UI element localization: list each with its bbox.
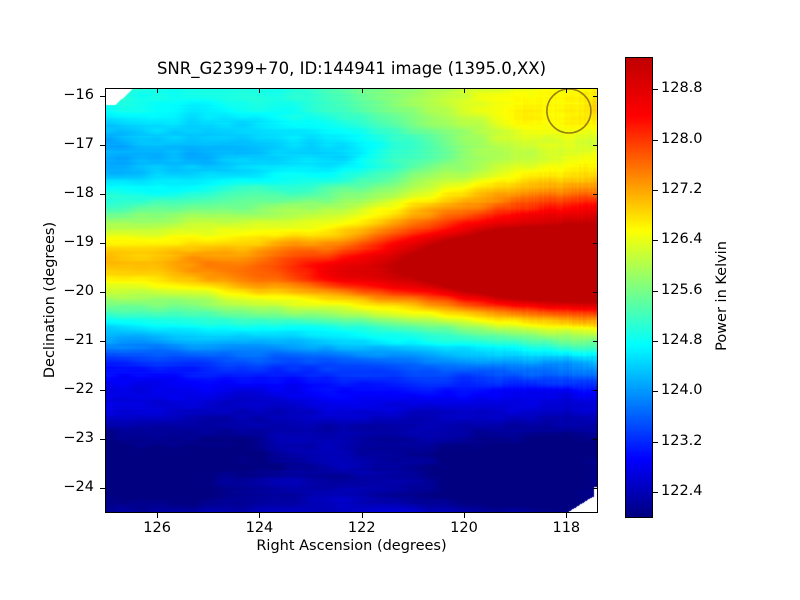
y-tick-right--16 xyxy=(593,96,598,97)
figure-canvas: SNR_G2399+70, ID:144941 image (1395.0,XX… xyxy=(0,0,800,600)
y-tick--24 xyxy=(100,488,105,489)
y-ticklabel--24: −24 xyxy=(36,479,94,495)
colorbar-ticklabel-128.8: 128.8 xyxy=(661,80,703,96)
colorbar-tick-128.0 xyxy=(653,140,658,141)
colorbar-ticklabel-122.4: 122.4 xyxy=(661,483,703,499)
x-ticklabel-124: 124 xyxy=(229,520,289,536)
colorbar-tick-125.6 xyxy=(653,291,658,292)
colorbar-ticklabel-124.8: 124.8 xyxy=(661,332,703,348)
x-ticklabel-126: 126 xyxy=(127,520,187,536)
y-ticklabel--16: −16 xyxy=(36,87,94,103)
x-ticklabel-122: 122 xyxy=(332,520,392,536)
colorbar-ticklabel-123.2: 123.2 xyxy=(661,433,703,449)
y-tick-right--21 xyxy=(593,341,598,342)
colorbar-tick-124.0 xyxy=(653,391,658,392)
x-tick-124 xyxy=(259,513,260,518)
colorbar-ticklabel-125.6: 125.6 xyxy=(661,282,703,298)
x-tick-122 xyxy=(362,513,363,518)
colorbar-gradient xyxy=(626,58,652,517)
x-tick-top-120 xyxy=(464,88,465,93)
x-ticklabel-120: 120 xyxy=(434,520,494,536)
x-tick-120 xyxy=(464,513,465,518)
colorbar-ticklabel-127.2: 127.2 xyxy=(661,181,703,197)
x-tick-118 xyxy=(566,513,567,518)
y-ticklabel--23: −23 xyxy=(36,430,94,446)
x-tick-top-118 xyxy=(566,88,567,93)
y-tick--23 xyxy=(100,439,105,440)
y-tick-right--20 xyxy=(593,292,598,293)
heatmap-image[interactable] xyxy=(106,89,597,512)
colorbar-tick-128.8 xyxy=(653,89,658,90)
x-tick-top-126 xyxy=(157,88,158,93)
y-tick-right--22 xyxy=(593,390,598,391)
y-tick-right--24 xyxy=(593,488,598,489)
y-ticklabel--17: −17 xyxy=(36,136,94,152)
x-tick-top-124 xyxy=(259,88,260,93)
y-tick-right--23 xyxy=(593,439,598,440)
colorbar[interactable] xyxy=(625,57,653,518)
y-tick--21 xyxy=(100,341,105,342)
colorbar-ticklabel-128.0: 128.0 xyxy=(661,131,703,147)
y-tick--19 xyxy=(100,243,105,244)
colorbar-tick-127.2 xyxy=(653,190,658,191)
colorbar-tick-123.2 xyxy=(653,442,658,443)
page-title: SNR_G2399+70, ID:144941 image (1395.0,XX… xyxy=(105,59,598,79)
colorbar-tick-126.4 xyxy=(653,240,658,241)
y-tick--18 xyxy=(100,194,105,195)
y-tick--22 xyxy=(100,390,105,391)
heatmap-axes[interactable] xyxy=(105,88,598,513)
colorbar-ticklabel-126.4: 126.4 xyxy=(661,231,703,247)
y-tick--20 xyxy=(100,292,105,293)
y-tick--17 xyxy=(100,145,105,146)
y-tick--16 xyxy=(100,96,105,97)
colorbar-ticklabel-124.0: 124.0 xyxy=(661,382,703,398)
y-tick-right--17 xyxy=(593,145,598,146)
colorbar-label: Power in Kelvin xyxy=(714,186,730,406)
y-tick-right--18 xyxy=(593,194,598,195)
x-ticklabel-118: 118 xyxy=(536,520,596,536)
y-tick-right--19 xyxy=(593,243,598,244)
x-tick-top-122 xyxy=(362,88,363,93)
x-tick-126 xyxy=(157,513,158,518)
colorbar-tick-122.4 xyxy=(653,492,658,493)
colorbar-tick-124.8 xyxy=(653,341,658,342)
x-axis-label: Right Ascension (degrees) xyxy=(105,538,598,554)
y-axis-label: Declination (degrees) xyxy=(42,190,58,410)
